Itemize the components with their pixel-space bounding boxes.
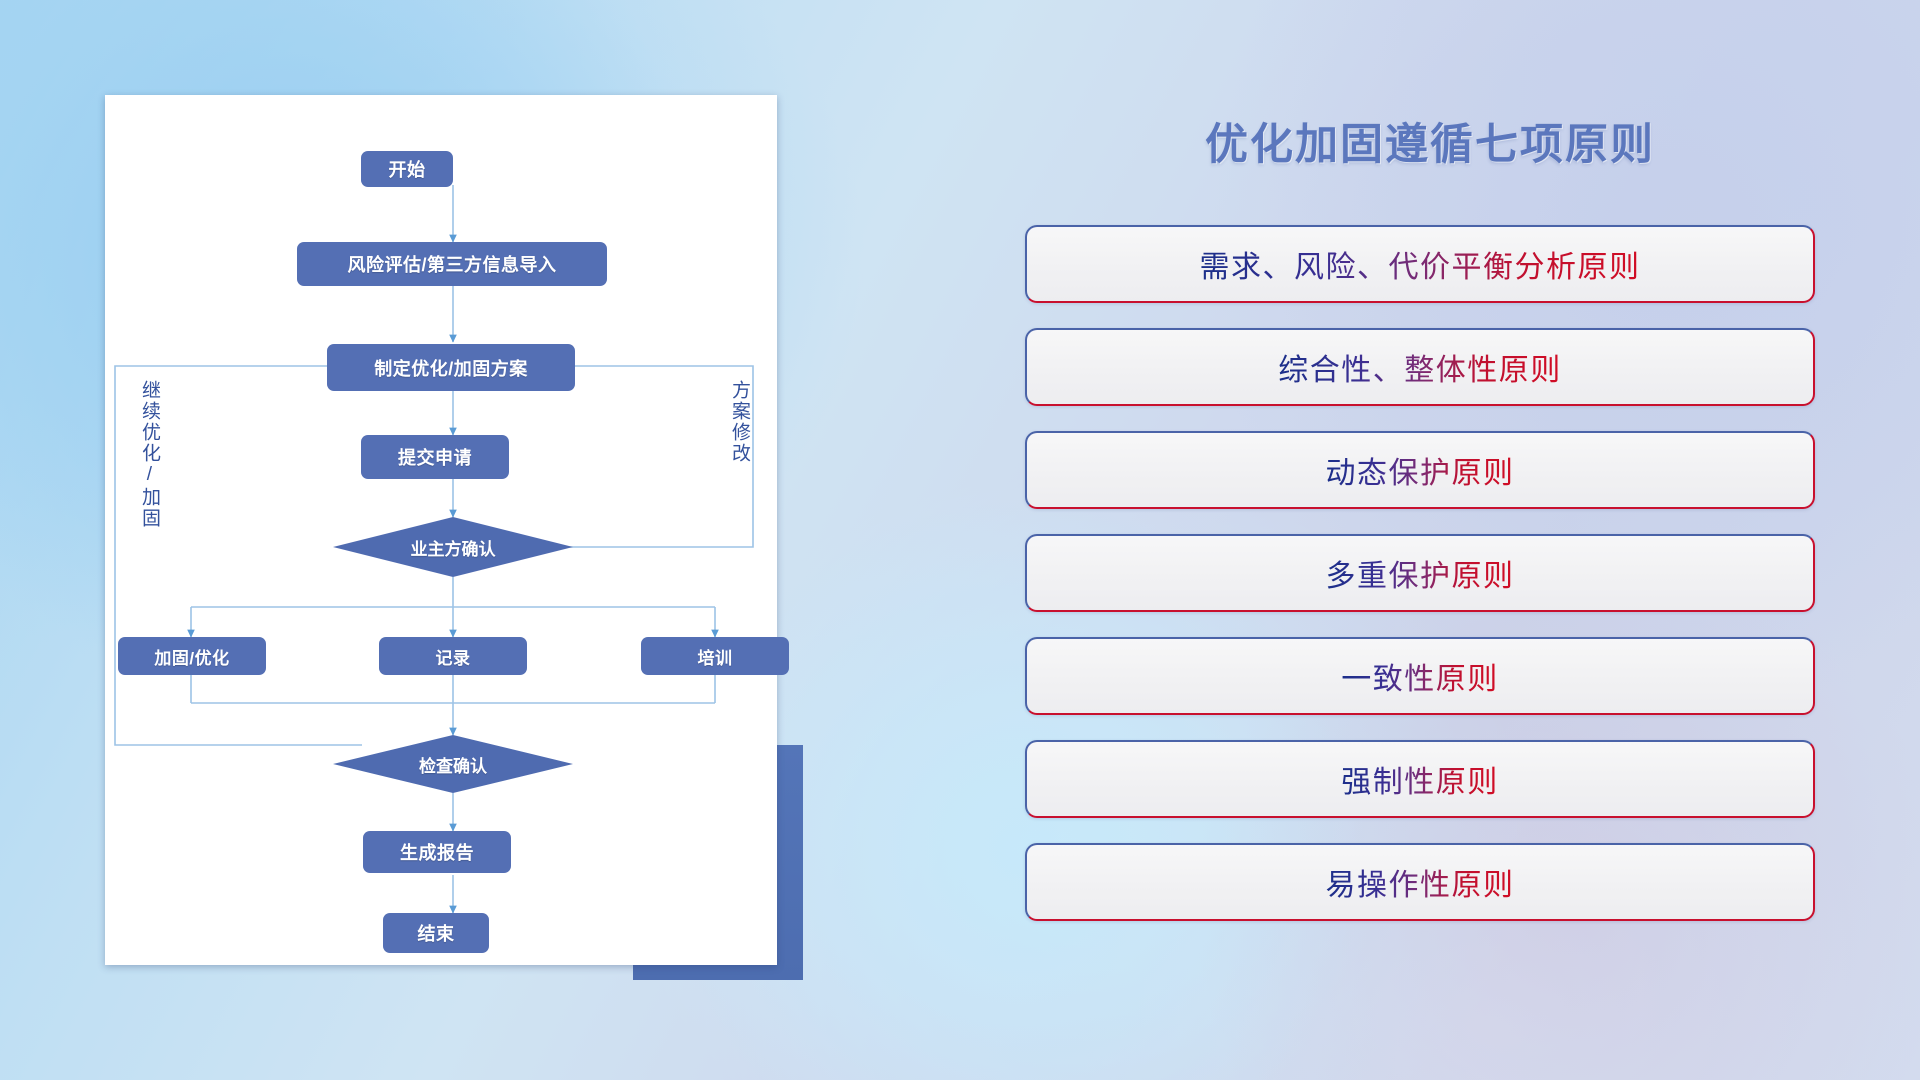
flow-node-reinforce[interactable]: 加固/优化 — [118, 637, 266, 675]
principle-label: 易操作性原则 — [1326, 860, 1515, 904]
principle-card[interactable]: 综合性、整体性原则 — [1025, 328, 1815, 406]
edge-label-continue-optimize: 继续优化/加固 — [139, 380, 159, 529]
principle-label: 强制性原则 — [1341, 757, 1499, 801]
principle-card[interactable]: 强制性原则 — [1025, 740, 1815, 818]
flow-node-label: 业主方确认 — [411, 535, 496, 560]
flow-node-label: 制定优化/加固方案 — [374, 355, 528, 381]
principle-label: 一致性原则 — [1341, 654, 1499, 698]
flow-node-risk-assessment[interactable]: 风险评估/第三方信息导入 — [297, 242, 607, 286]
flow-node-label: 检查确认 — [419, 752, 487, 777]
principles-panel: 优化加固遵循七项原则 需求、风险、代价平衡分析原则 综合性、整体性原则 动态保护… — [1020, 95, 1840, 1015]
principle-label: 动态保护原则 — [1326, 448, 1515, 492]
edge-label-plan-revision: 方案修改 — [729, 380, 749, 464]
principle-card[interactable]: 需求、风险、代价平衡分析原则 — [1025, 225, 1815, 303]
flow-node-record[interactable]: 记录 — [379, 637, 527, 675]
principle-card[interactable]: 多重保护原则 — [1025, 534, 1815, 612]
flow-node-label: 开始 — [389, 156, 426, 182]
principle-label: 多重保护原则 — [1326, 551, 1515, 595]
flow-node-check-confirm[interactable]: 检查确认 — [333, 735, 573, 793]
flow-node-label: 结束 — [418, 920, 455, 946]
flowchart-panel: 开始 风险评估/第三方信息导入 制定优化/加固方案 提交申请 业主方确认 加固/… — [105, 95, 777, 965]
flow-node-label: 加固/优化 — [154, 644, 229, 669]
flow-node-label: 风险评估/第三方信息导入 — [348, 251, 557, 277]
principles-list: 需求、风险、代价平衡分析原则 综合性、整体性原则 动态保护原则 多重保护原则 一… — [1025, 225, 1815, 946]
flow-node-generate-report[interactable]: 生成报告 — [363, 831, 511, 873]
principle-label: 综合性、整体性原则 — [1278, 345, 1562, 389]
page-title: 优化加固遵循七项原则 — [1020, 110, 1840, 172]
flow-node-label: 记录 — [436, 644, 471, 669]
principle-label: 需求、风险、代价平衡分析原则 — [1200, 242, 1641, 286]
flow-node-plan[interactable]: 制定优化/加固方案 — [327, 344, 575, 391]
flow-node-label: 生成报告 — [400, 839, 474, 865]
flow-node-label: 提交申请 — [398, 444, 472, 470]
flow-node-submit-application[interactable]: 提交申请 — [361, 435, 509, 479]
flow-node-end[interactable]: 结束 — [383, 913, 489, 953]
flow-node-start[interactable]: 开始 — [361, 151, 453, 187]
flow-node-owner-confirm[interactable]: 业主方确认 — [333, 517, 573, 577]
principle-card[interactable]: 一致性原则 — [1025, 637, 1815, 715]
slide-canvas: 开始 风险评估/第三方信息导入 制定优化/加固方案 提交申请 业主方确认 加固/… — [0, 0, 1920, 1080]
flow-node-label: 培训 — [698, 644, 733, 669]
principle-card[interactable]: 易操作性原则 — [1025, 843, 1815, 921]
principle-card[interactable]: 动态保护原则 — [1025, 431, 1815, 509]
flow-node-training[interactable]: 培训 — [641, 637, 789, 675]
